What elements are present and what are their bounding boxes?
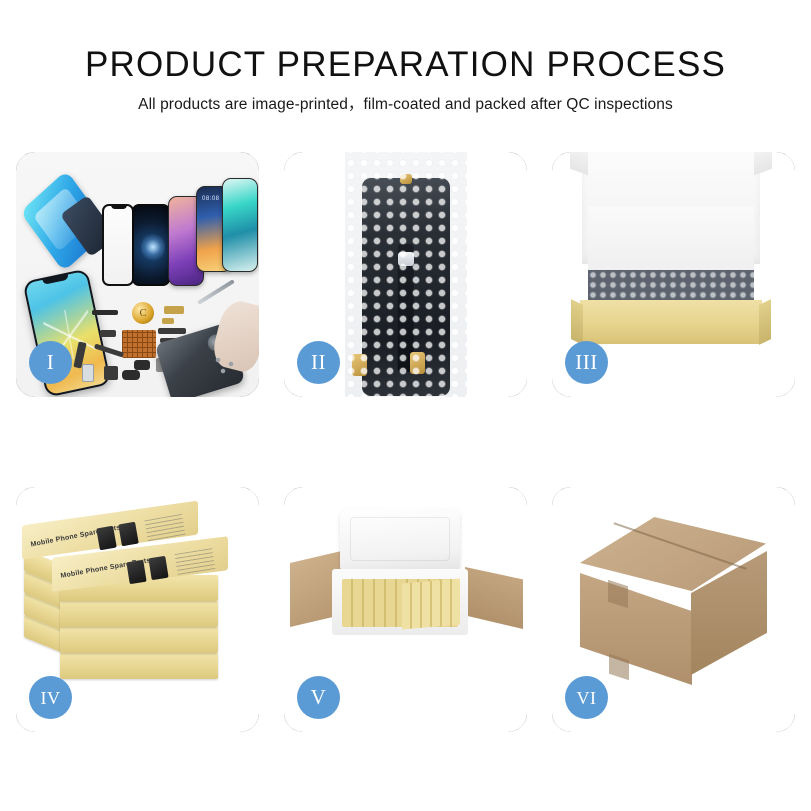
gold-box-front-5 [60, 653, 218, 679]
tweezers-tool [197, 279, 235, 305]
part-camera-module [134, 360, 150, 370]
gold-inner-box-tray [580, 300, 762, 344]
part-bar-2 [164, 306, 184, 314]
lcd-assembly-dark [132, 204, 170, 286]
process-step-grid: 08:08 [16, 152, 795, 740]
screws-group [213, 355, 239, 375]
carton-left-face [580, 573, 692, 685]
step-badge-3: III [565, 341, 608, 384]
bubble-texture-overlay [345, 152, 467, 397]
process-step-panel-2[interactable]: II [284, 152, 527, 397]
gold-box-front-3 [60, 601, 218, 627]
part-bar-3 [162, 318, 174, 324]
foam-cooler-lid [340, 509, 460, 573]
page-title: PRODUCT PREPARATION PROCESS [0, 44, 811, 86]
part-button-cable [122, 370, 140, 380]
header: PRODUCT PREPARATION PROCESS All products… [0, 0, 811, 140]
part-small-board [104, 366, 118, 380]
phone-clock-text: 08:08 [202, 196, 220, 202]
process-step-panel-4[interactable]: Mobile Phone Spare Parts Mobile Phone Sp… [16, 487, 259, 732]
step-badge-5: V [297, 676, 340, 719]
flex-cable-3 [158, 328, 186, 334]
foam-padding-sheet [588, 206, 754, 272]
product-preparation-process-page: PRODUCT PREPARATION PROCESS All products… [0, 0, 811, 811]
part-sim-tray [82, 364, 94, 382]
step-badge-2: II [297, 341, 340, 384]
process-step-panel-3[interactable]: III [552, 152, 795, 397]
box-art-phone-4 [148, 556, 168, 580]
step-badge-1: I [29, 341, 72, 384]
front-glass-panel [102, 204, 134, 286]
carton-flap-right [465, 567, 523, 629]
ic-chip-grid [122, 330, 156, 358]
bubble-wrapped-items-layer [588, 270, 754, 304]
part-bar-1 [92, 310, 118, 315]
speaker-module-gold [132, 302, 154, 324]
process-step-panel-6[interactable]: VI [552, 487, 795, 732]
phone-teal [222, 178, 258, 272]
process-step-panel-1[interactable]: 08:08 [16, 152, 259, 397]
box-art-phone-2 [118, 522, 139, 547]
box-art-phone-1 [96, 526, 117, 551]
process-step-panel-5[interactable]: V [284, 487, 527, 732]
page-subtitle: All products are image-printed，film-coat… [0, 95, 811, 115]
flex-cable-1 [100, 330, 116, 337]
step-badge-6: VI [565, 676, 608, 719]
gold-box-front-4 [60, 627, 218, 653]
box-art-phone-3 [126, 560, 146, 584]
step-badge-4: IV [29, 676, 72, 719]
gold-boxes-row-back [402, 578, 460, 629]
carton-body [326, 629, 484, 709]
